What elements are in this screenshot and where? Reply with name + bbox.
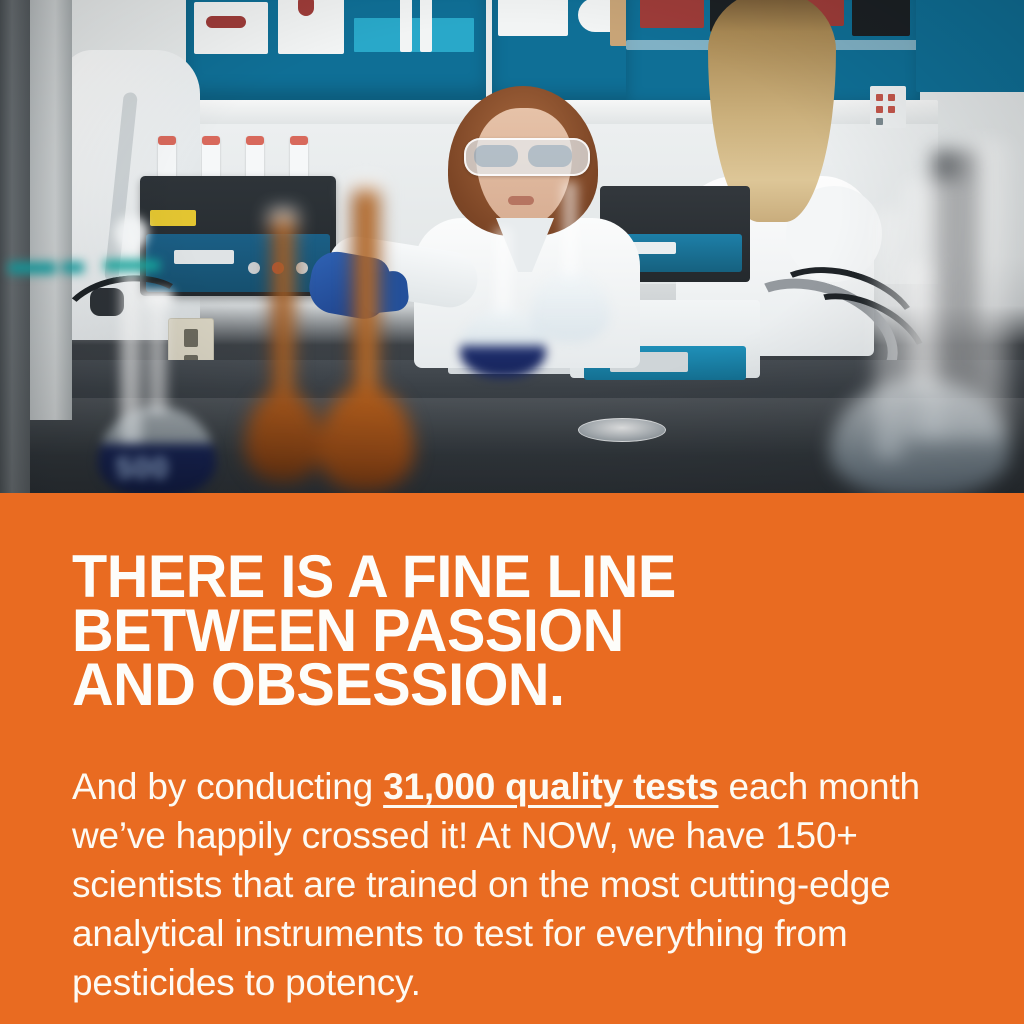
photo-vignette: [0, 0, 1024, 493]
body-copy: And by conducting 31,000 quality tests e…: [72, 762, 952, 1007]
promotional-poster: 500: [0, 0, 1024, 1024]
orange-text-panel: THERE IS A FINE LINE BETWEEN PASSION AND…: [0, 493, 1024, 1024]
highlight-quality-tests: 31,000 quality tests: [383, 766, 718, 807]
body-copy-before: And by conducting: [72, 766, 383, 807]
lab-photo: 500: [0, 0, 1024, 493]
headline: THERE IS A FINE LINE BETWEEN PASSION AND…: [72, 550, 936, 712]
